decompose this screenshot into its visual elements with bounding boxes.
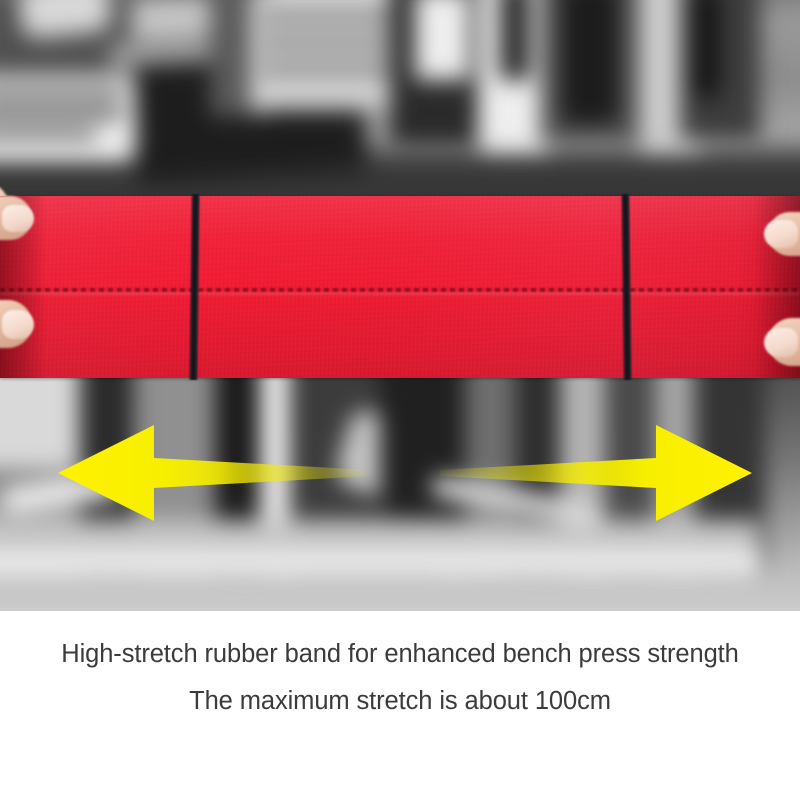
- right-fingernail-lower: [764, 328, 798, 357]
- left-fingernail-lower: [2, 310, 34, 339]
- left-stretch-arrow-icon: [50, 418, 370, 528]
- left-fingernail-upper: [2, 205, 34, 232]
- band-fabric-texture: [0, 196, 800, 378]
- caption-line-2: The maximum stretch is about 100cm: [0, 687, 800, 716]
- right-fingernail-upper: [764, 220, 798, 248]
- product-image-page: High-stretch rubber band for enhanced be…: [0, 0, 800, 800]
- red-resistance-band: [0, 196, 800, 378]
- right-stretch-arrow-icon: [440, 418, 760, 528]
- caption-line-1: High-stretch rubber band for enhanced be…: [0, 640, 800, 669]
- product-photo: [0, 0, 800, 611]
- caption-block: High-stretch rubber band for enhanced be…: [0, 611, 800, 800]
- band-stitching-highlight: [0, 292, 800, 295]
